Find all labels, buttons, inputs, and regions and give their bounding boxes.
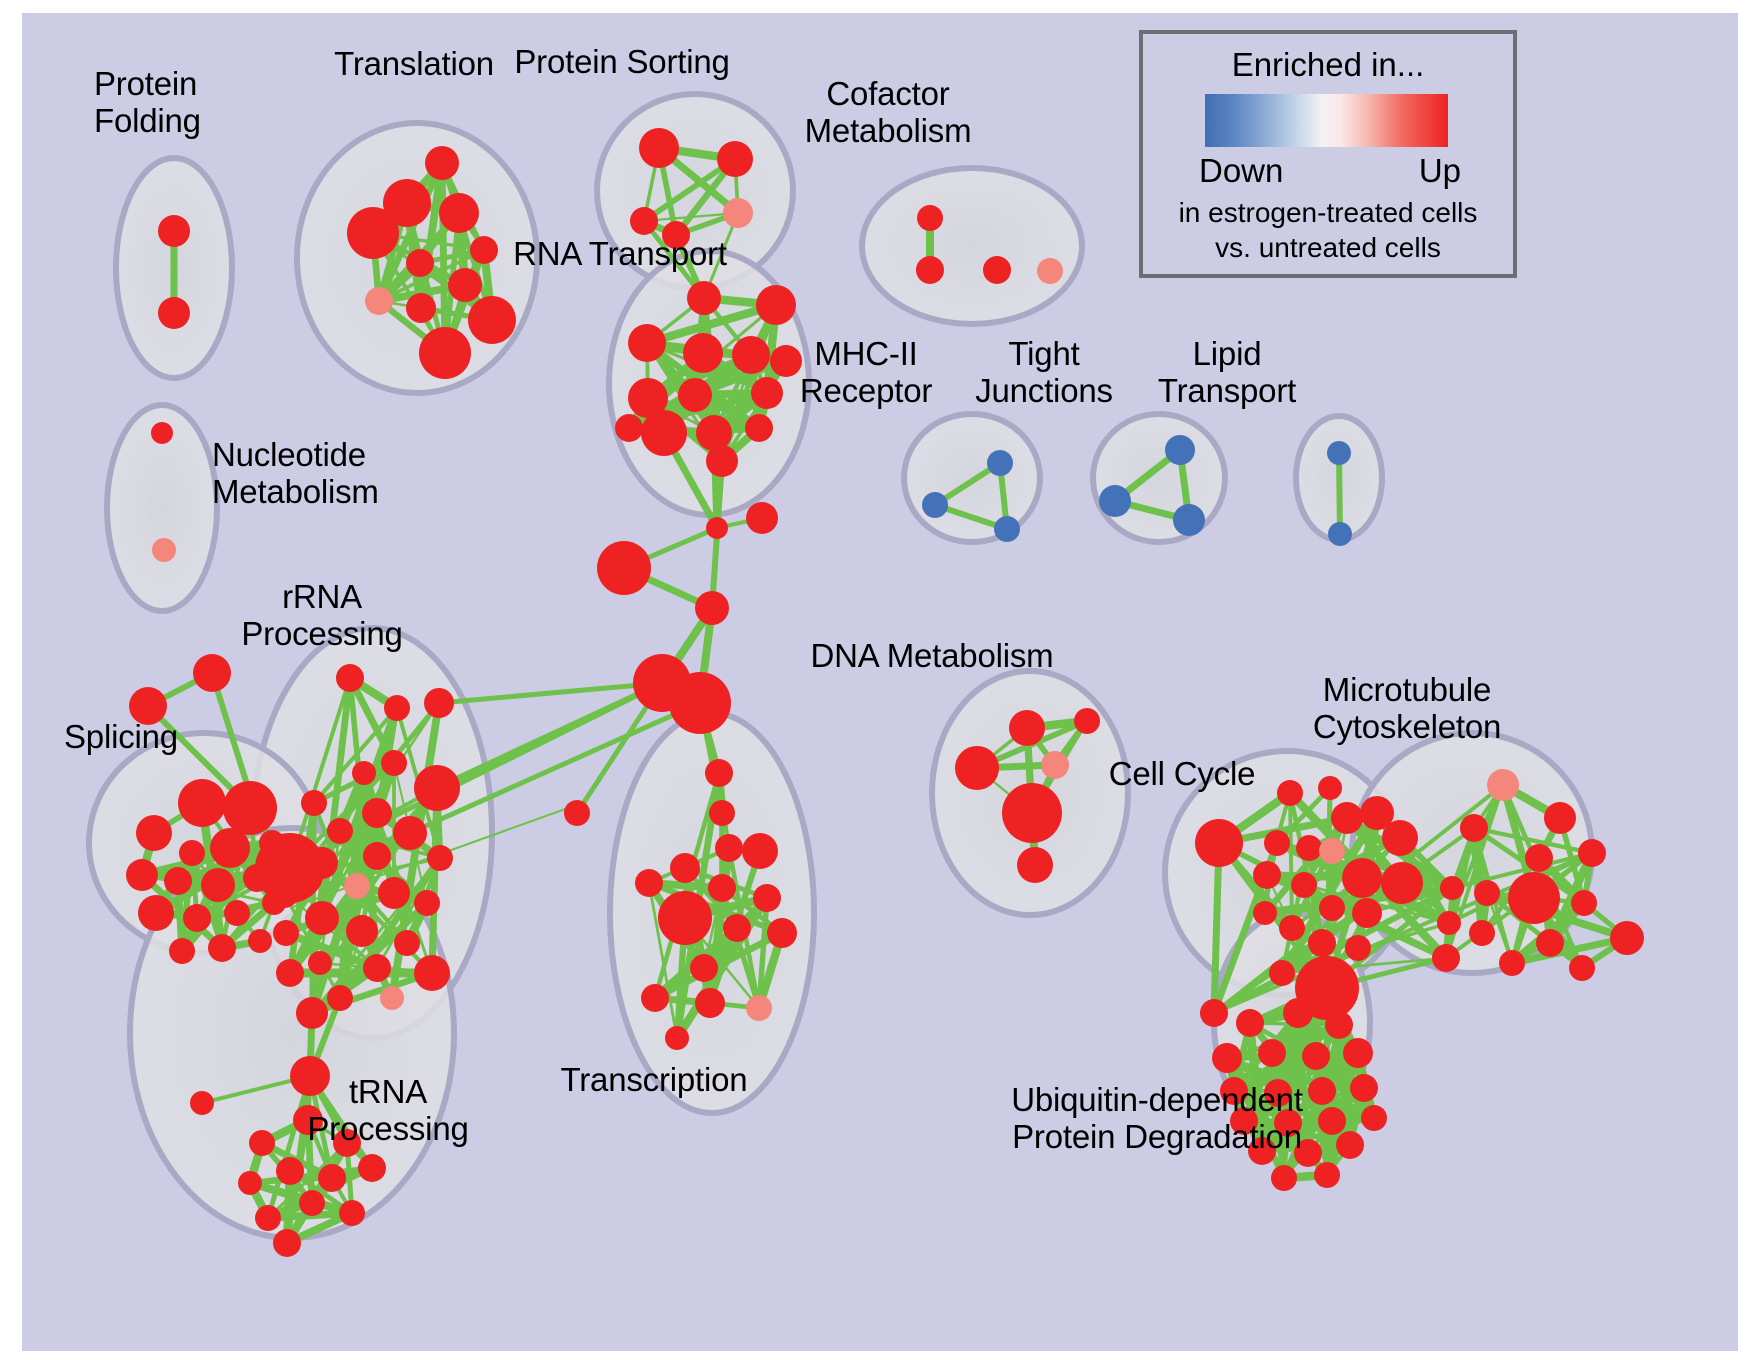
graph-node[interactable] [695,591,729,625]
graph-node[interactable] [756,285,796,325]
graph-node[interactable] [1236,1009,1264,1037]
graph-node[interactable] [365,287,393,315]
graph-node[interactable] [327,818,353,844]
graph-node[interactable] [1352,898,1382,928]
graph-node[interactable] [381,750,407,776]
graph-node[interactable] [470,236,498,264]
graph-node[interactable] [705,759,733,787]
graph-node[interactable] [406,249,434,277]
graph-node[interactable] [983,256,1011,284]
graph-node[interactable] [425,146,459,180]
graph-node[interactable] [318,1164,346,1192]
graph-node[interactable] [723,198,753,228]
graph-node[interactable] [1328,522,1352,546]
graph-node[interactable] [695,988,725,1018]
graph-node[interactable] [1212,1043,1242,1073]
graph-node[interactable] [1525,844,1553,872]
graph-node[interactable] [1002,783,1062,843]
graph-node[interactable] [178,779,226,827]
graph-node[interactable] [917,205,943,231]
cluster-hull-tight-junctions [1093,414,1225,542]
graph-node[interactable] [276,959,304,987]
graph-node[interactable] [1041,751,1069,779]
graph-node[interactable] [1460,814,1488,842]
graph-edge [1339,453,1340,534]
graph-node[interactable] [1325,1011,1353,1039]
cluster-hull-cofactor-metabolism [862,168,1082,324]
graph-node[interactable] [414,765,460,811]
cluster-label-rna-transport: RNA Transport [513,235,727,272]
cluster-label-ubiquitin-degradation: Ubiquitin-dependent Protein Degradation [1011,1081,1303,1155]
graph-node[interactable] [690,954,718,982]
graph-node[interactable] [1544,802,1576,834]
graph-node[interactable] [1314,1162,1340,1188]
graph-node[interactable] [448,268,482,302]
graph-node[interactable] [179,840,205,866]
graph-node[interactable] [164,867,192,895]
graph-node[interactable] [344,873,370,899]
graph-node[interactable] [210,828,250,868]
figure-root: Protein Folding Translation Protein Sort… [0,0,1750,1360]
graph-node[interactable] [158,215,190,247]
graph-node[interactable] [955,746,999,790]
graph-node[interactable] [327,985,353,1011]
graph-node[interactable] [193,654,231,692]
graph-node[interactable] [248,929,272,953]
graph-node[interactable] [1432,944,1460,972]
graph-node[interactable] [336,664,364,692]
graph-node[interactable] [1499,950,1525,976]
graph-node[interactable] [639,128,679,168]
graph-node[interactable] [717,141,753,177]
graph-node[interactable] [687,281,721,315]
graph-node[interactable] [641,984,669,1012]
graph-node[interactable] [732,336,770,374]
graph-node[interactable] [916,256,944,284]
graph-node[interactable] [419,327,471,379]
graph-node[interactable] [1195,819,1243,867]
graph-node[interactable] [224,900,250,926]
graph-node[interactable] [706,517,728,539]
graph-node[interactable] [597,541,651,595]
graph-node[interactable] [384,695,410,721]
graph-node[interactable] [380,986,404,1010]
graph-node[interactable] [746,995,772,1021]
graph-node[interactable] [635,869,663,897]
graph-node[interactable] [414,955,450,991]
graph-node[interactable] [1336,1131,1364,1159]
graph-node[interactable] [708,874,736,902]
graph-node[interactable] [615,414,643,442]
cluster-label-splicing: Splicing [64,718,178,755]
graph-node[interactable] [658,891,712,945]
graph-node[interactable] [669,672,731,734]
graph-node[interactable] [742,833,778,869]
graph-node[interactable] [670,853,700,883]
graph-node[interactable] [1074,708,1100,734]
graph-node[interactable] [1253,861,1281,889]
graph-node[interactable] [1487,769,1519,801]
graph-node[interactable] [136,815,172,851]
graph-node[interactable] [1291,872,1317,898]
graph-node[interactable] [273,920,299,946]
graph-node[interactable] [1342,858,1382,898]
graph-node[interactable] [439,193,479,233]
graph-node[interactable] [1343,1038,1373,1068]
graph-node[interactable] [414,890,440,916]
cluster-label-lipid-transport: Lipid Transport [1158,335,1296,409]
graph-node[interactable] [1569,955,1595,981]
graph-node[interactable] [424,688,454,718]
graph-node[interactable] [363,842,391,870]
legend-down-label: Down [1199,152,1283,190]
graph-node[interactable] [352,761,376,785]
graph-node[interactable] [1302,1042,1330,1070]
graph-node[interactable] [1017,847,1053,883]
graph-node[interactable] [1318,1107,1346,1135]
graph-node[interactable] [276,1157,304,1185]
graph-node[interactable] [1536,929,1564,957]
graph-node[interactable] [1610,921,1644,955]
graph-node[interactable] [427,845,453,871]
graph-node[interactable] [745,414,773,442]
graph-node[interactable] [1253,901,1277,925]
cluster-label-protein-folding: Protein Folding [94,65,201,139]
graph-node[interactable] [709,800,735,826]
cluster-label-cofactor-metabolism: Cofactor Metabolism [805,75,972,149]
graph-node[interactable] [378,877,410,909]
graph-node[interactable] [987,450,1013,476]
graph-node[interactable] [468,296,516,344]
graph-node[interactable] [1469,920,1495,946]
graph-node[interactable] [363,954,391,982]
cluster-label-cell-cycle: Cell Cycle [1109,755,1256,792]
graph-node[interactable] [406,293,436,323]
graph-node[interactable] [715,834,743,862]
graph-node[interactable] [1361,1105,1387,1131]
graph-node[interactable] [1350,1074,1378,1102]
graph-node[interactable] [339,1200,365,1226]
cluster-label-dna-metabolism: DNA Metabolism [811,637,1054,674]
graph-node[interactable] [223,781,277,835]
graph-node[interactable] [169,938,195,964]
graph-node[interactable] [1440,876,1464,900]
graph-node[interactable] [301,790,327,816]
graph-node[interactable] [346,915,378,947]
graph-node[interactable] [1283,998,1313,1028]
graph-node[interactable] [1258,1039,1286,1067]
cluster-label-transcription: Transcription [561,1061,748,1098]
graph-node[interactable] [922,492,948,518]
graph-node[interactable] [746,502,778,534]
graph-node[interactable] [1296,835,1322,861]
graph-node[interactable] [683,333,723,373]
graph-node[interactable] [152,538,176,562]
graph-node[interactable] [1277,780,1303,806]
legend-title: Enriched in... [1143,46,1513,84]
graph-node[interactable] [1319,838,1345,864]
legend-caption-line2: vs. untreated cells [1143,232,1513,264]
cluster-label-trna-processing: tRNA Processing [307,1073,468,1147]
graph-node[interactable] [208,934,236,962]
cluster-label-translation: Translation [334,45,494,82]
graph-node[interactable] [190,1091,214,1115]
graph-node[interactable] [158,297,190,329]
graph-node[interactable] [1508,872,1560,924]
graph-node[interactable] [255,1205,281,1231]
graph-node[interactable] [255,833,325,903]
graph-node[interactable] [1269,960,1295,986]
graph-node[interactable] [126,859,158,891]
graph-node[interactable] [1200,999,1228,1027]
graph-node[interactable] [393,816,427,850]
graph-node[interactable] [678,378,712,412]
graph-node[interactable] [1271,1165,1297,1191]
graph-node[interactable] [299,1190,325,1216]
graph-node[interactable] [201,868,235,902]
graph-node[interactable] [1327,441,1351,465]
graph-node[interactable] [1165,435,1195,465]
graph-node[interactable] [362,798,392,828]
graph-node[interactable] [1331,802,1363,834]
graph-node[interactable] [1382,820,1418,856]
cluster-label-protein-sorting: Protein Sorting [514,43,729,80]
graph-node[interactable] [1571,890,1597,916]
graph-node[interactable] [138,895,174,931]
graph-node[interactable] [1099,485,1131,517]
graph-node[interactable] [238,1171,262,1195]
graph-node[interactable] [1345,935,1371,961]
cluster-label-rrna-processing: rRNA Processing [241,578,402,652]
graph-node[interactable] [696,415,732,451]
graph-node[interactable] [305,901,339,935]
graph-node[interactable] [641,410,687,456]
graph-node[interactable] [1437,911,1461,935]
network-canvas: Protein Folding Translation Protein Sort… [22,13,1738,1351]
graph-node[interactable] [706,445,738,477]
graph-node[interactable] [751,377,783,409]
legend-color-bar [1205,94,1448,147]
graph-node[interactable] [394,930,420,956]
graph-node[interactable] [1578,839,1606,867]
cluster-label-microtubule: Microtubule Cytoskeleton [1313,671,1501,745]
graph-node[interactable] [1037,258,1063,284]
graph-node[interactable] [564,800,590,826]
graph-node[interactable] [628,324,666,362]
graph-edge [1214,843,1219,1013]
graph-node[interactable] [1318,776,1342,800]
graph-node[interactable] [273,1229,301,1257]
cluster-label-tight-junctions: Tight Junctions [975,335,1113,409]
graph-node[interactable] [183,904,211,932]
graph-node[interactable] [994,516,1020,542]
graph-node[interactable] [723,914,751,942]
graph-node[interactable] [1308,929,1336,957]
graph-node[interactable] [665,1026,689,1050]
legend-caption-line1: in estrogen-treated cells [1143,197,1513,229]
graph-node[interactable] [151,422,173,444]
graph-node[interactable] [1381,862,1423,904]
cluster-label-nucleotide-metabolism: Nucleotide Metabolism [212,436,379,510]
graph-node[interactable] [767,918,797,948]
graph-node[interactable] [753,884,781,912]
graph-node[interactable] [1308,1077,1336,1105]
graph-node[interactable] [1173,504,1205,536]
graph-node[interactable] [1474,880,1500,906]
graph-node[interactable] [1264,830,1290,856]
graph-node[interactable] [1009,710,1045,746]
cluster-label-mhc-ii-receptor: MHC-II Receptor [800,335,932,409]
graph-node[interactable] [770,345,802,377]
graph-node[interactable] [249,1130,275,1156]
graph-node[interactable] [358,1154,386,1182]
graph-node[interactable] [296,997,328,1029]
graph-node[interactable] [347,207,399,259]
graph-node[interactable] [1279,915,1305,941]
legend: Enriched in... Down Up in estrogen-treat… [1139,30,1517,278]
legend-up-label: Up [1419,152,1461,190]
graph-node[interactable] [630,207,658,235]
graph-node[interactable] [308,951,332,975]
graph-node[interactable] [1319,895,1345,921]
